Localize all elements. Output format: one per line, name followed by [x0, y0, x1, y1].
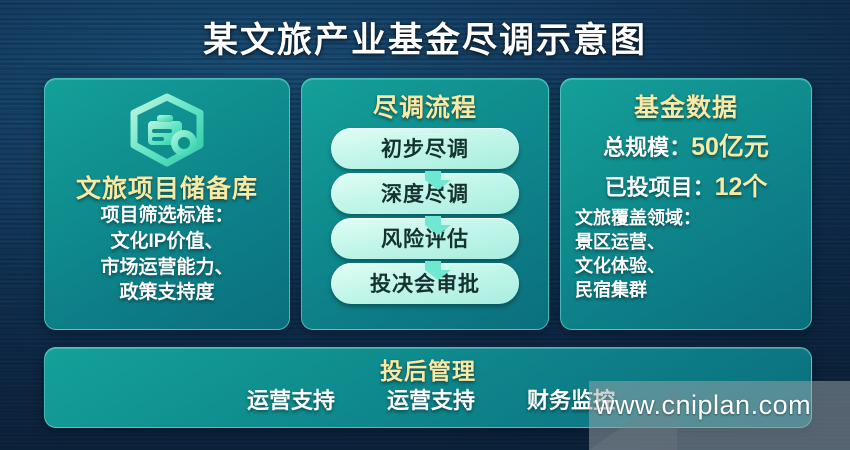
panel-process-heading: 尽调流程	[302, 88, 548, 124]
fund-stat-invested-projects: 已投项目：12个	[573, 167, 799, 203]
project-repository-icon	[45, 93, 289, 172]
coverage-line: 文旅覆盖领域：	[575, 207, 801, 231]
watermark-text: www.cniplan.com	[595, 390, 811, 421]
coverage-line: 文化体验、	[575, 255, 801, 279]
reserve-line: 政策支持度	[55, 280, 279, 306]
fund-coverage-body: 文旅覆盖领域： 景区运营、 文化体验、 民宿集群	[575, 207, 801, 303]
process-step-1[interactable]: 初步尽调	[331, 128, 519, 169]
panel-reserve-heading: 文旅项目储备库	[45, 169, 289, 205]
coverage-line: 民宿集群	[575, 279, 801, 303]
coverage-line: 景区运营、	[575, 231, 801, 255]
fund-stat-total-scale: 总规模：50亿元	[573, 127, 799, 163]
fund-stat-value: 50亿元	[691, 133, 769, 161]
page-title: 某文旅产业基金尽调示意图	[0, 12, 850, 63]
panel-fund-heading: 基金数据	[561, 88, 811, 124]
fund-stat-label: 总规模：	[603, 135, 691, 160]
reserve-line: 项目筛选标准：	[55, 203, 279, 229]
process-flow: 初步尽调 深度尽调 风险评估 投决会审批	[302, 128, 548, 304]
fund-stat-label: 已投项目：	[605, 175, 715, 200]
post-item-1[interactable]: 运营支持	[247, 383, 335, 415]
post-item-2[interactable]: 运营支持	[387, 383, 475, 415]
panel-fund-data: 基金数据 总规模：50亿元 已投项目：12个 文旅覆盖领域： 景区运营、 文化体…	[560, 78, 812, 330]
panel-project-reserve: 文旅项目储备库 项目筛选标准： 文化IP价值、 市场运营能力、 政策支持度	[44, 78, 290, 330]
panel-dd-process: 尽调流程 初步尽调 深度尽调 风险评估 投决会审批	[301, 78, 549, 330]
panel-reserve-body: 项目筛选标准： 文化IP价值、 市场运营能力、 政策支持度	[55, 203, 279, 306]
slide-canvas: 某文旅产业基金尽调示意图 文旅项目储备库	[0, 0, 850, 450]
process-step-row: 初步尽调	[302, 128, 548, 169]
reserve-line: 市场运营能力、	[55, 255, 279, 281]
reserve-line: 文化IP价值、	[55, 229, 279, 255]
fund-stat-value: 12个	[715, 173, 768, 201]
